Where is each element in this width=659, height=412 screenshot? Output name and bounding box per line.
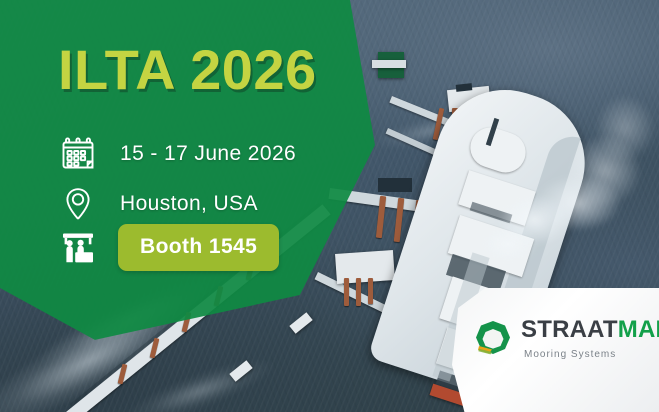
page-title: ILTA 2026 — [58, 42, 317, 98]
event-date-text: 15 - 17 June 2026 — [120, 142, 296, 166]
exhibition-booth-icon — [56, 226, 100, 270]
event-location-text: Houston, USA — [120, 192, 258, 216]
logo-wordmark: STRAATMAN Mooring Systems — [521, 318, 659, 360]
calendar-icon — [56, 132, 100, 176]
event-banner: ILTA 2026 — [0, 0, 659, 412]
logo-tagline: Mooring Systems — [524, 349, 659, 360]
logo-lockup: STRAATMAN Mooring Systems — [474, 318, 659, 360]
straatman-hexagon-logo-icon — [474, 319, 512, 357]
event-location-row: Houston, USA — [56, 182, 258, 226]
booth-number-badge: Booth 1545 — [118, 224, 279, 271]
logo-name-part2: MAN — [618, 316, 659, 343]
event-date-row: 15 - 17 June 2026 — [56, 132, 296, 176]
map-pin-icon — [56, 182, 100, 226]
logo-name-part1: STRAAT — [521, 316, 618, 343]
event-booth-row: Booth 1545 — [56, 224, 279, 271]
brand-logo-badge: STRAATMAN Mooring Systems — [452, 288, 659, 412]
logo-brand-name: STRAATMAN — [521, 316, 659, 343]
